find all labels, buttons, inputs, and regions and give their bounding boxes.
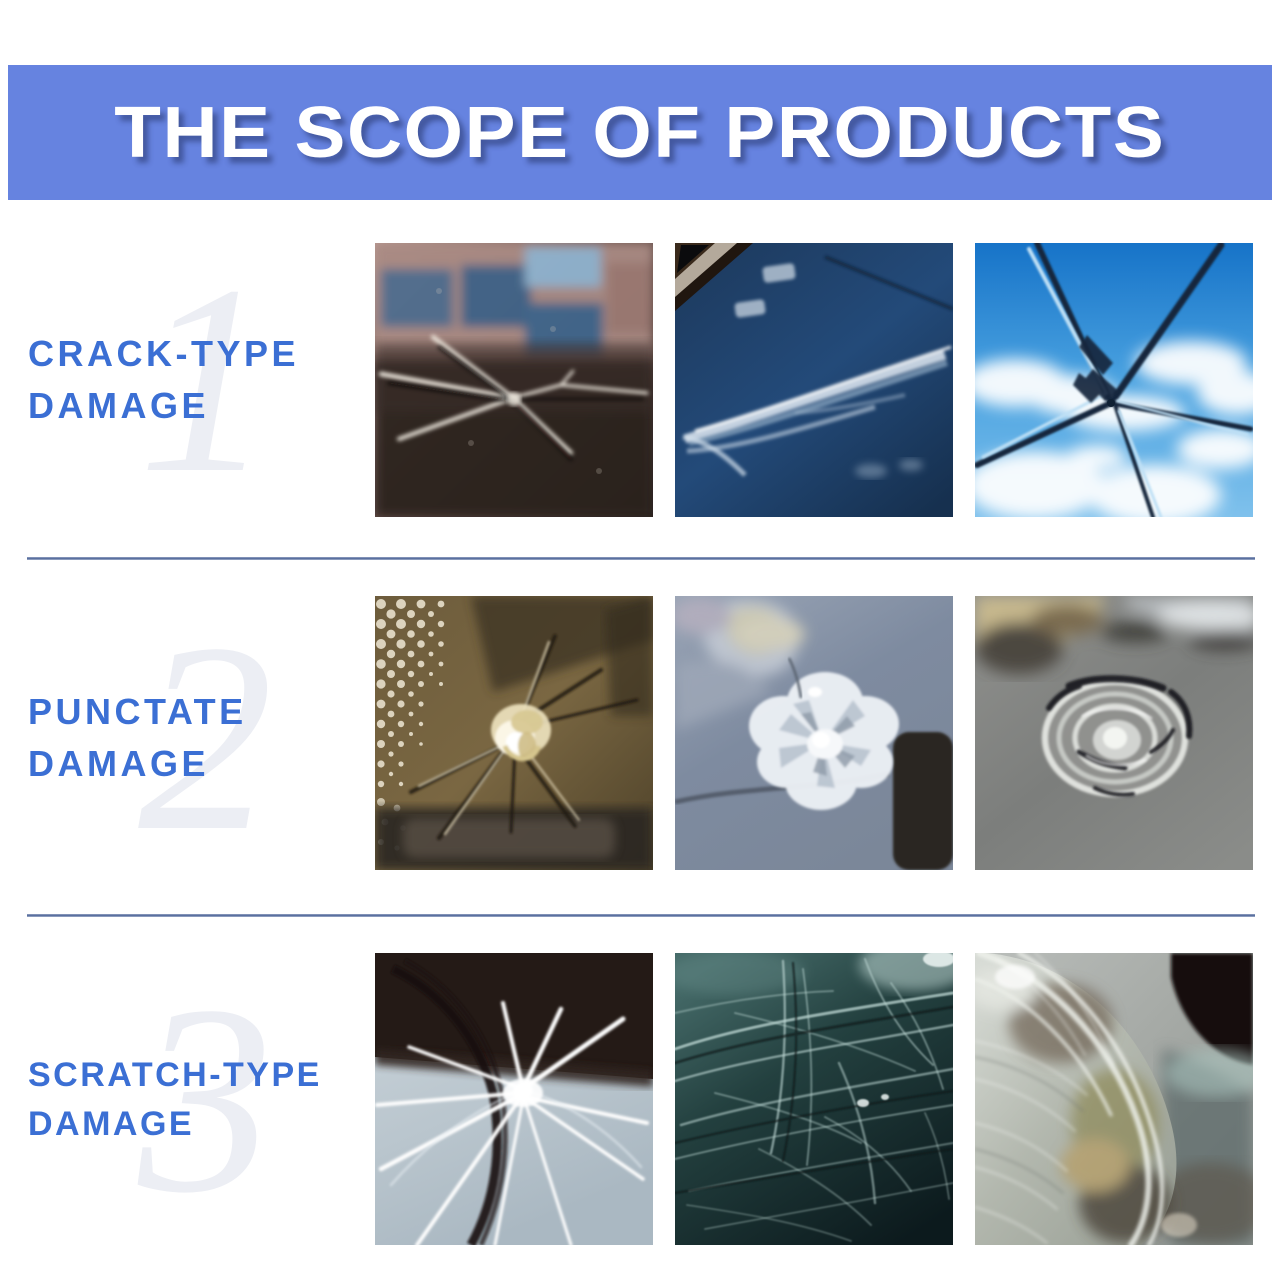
damage-photo-scratched-headlight-lens [975, 953, 1253, 1245]
row-label-group-2: 2 PUNCTATE DAMAGE [28, 578, 368, 898]
damage-photo-long-crack-blue-glass [675, 243, 953, 517]
row-label-line1-1: CRACK-TYPE [28, 328, 368, 380]
damage-photo-radiating-scratches-halfdark [375, 953, 653, 1245]
damage-category-row-crack: 1 CRACK-TYPE DAMAGE [0, 220, 1280, 540]
damage-photo-cracks-blue-sky [975, 243, 1253, 517]
damage-photo-star-crack-building [375, 243, 653, 517]
image-tiles-row-2 [375, 596, 1255, 870]
row-label-group-1: 1 CRACK-TYPE DAMAGE [28, 220, 368, 540]
damage-photo-flower-chip-gray-glass [675, 596, 953, 870]
row-label-line2-3: DAMAGE [28, 1100, 368, 1149]
page-title: THE SCOPE OF PRODUCTS [114, 97, 1165, 169]
row-label-line1-2: PUNCTATE [28, 686, 368, 738]
infographic-page: THE SCOPE OF PRODUCTS 1 CRACK-TYPE DAMAG… [0, 0, 1280, 1280]
row-divider-2 [27, 914, 1255, 917]
image-tiles-row-1 [375, 243, 1255, 517]
header-banner: THE SCOPE OF PRODUCTS [8, 65, 1272, 200]
row-label-group-3: 3 SCRATCH-TYPE DAMAGE [28, 935, 368, 1265]
damage-photo-chip-olive-glass [375, 596, 653, 870]
row-label-line2-1: DAMAGE [28, 380, 368, 432]
damage-photo-bullseye-chip-gray-glass [975, 596, 1253, 870]
row-divider-1 [27, 557, 1255, 560]
row-label-line1-3: SCRATCH-TYPE [28, 1051, 368, 1100]
damage-photo-fine-scratches-teal-glass [675, 953, 953, 1245]
damage-category-row-scratch: 3 SCRATCH-TYPE DAMAGE [0, 935, 1280, 1265]
row-label-line2-2: DAMAGE [28, 738, 368, 790]
damage-category-row-punctate: 2 PUNCTATE DAMAGE [0, 578, 1280, 898]
image-tiles-row-3 [375, 953, 1255, 1245]
